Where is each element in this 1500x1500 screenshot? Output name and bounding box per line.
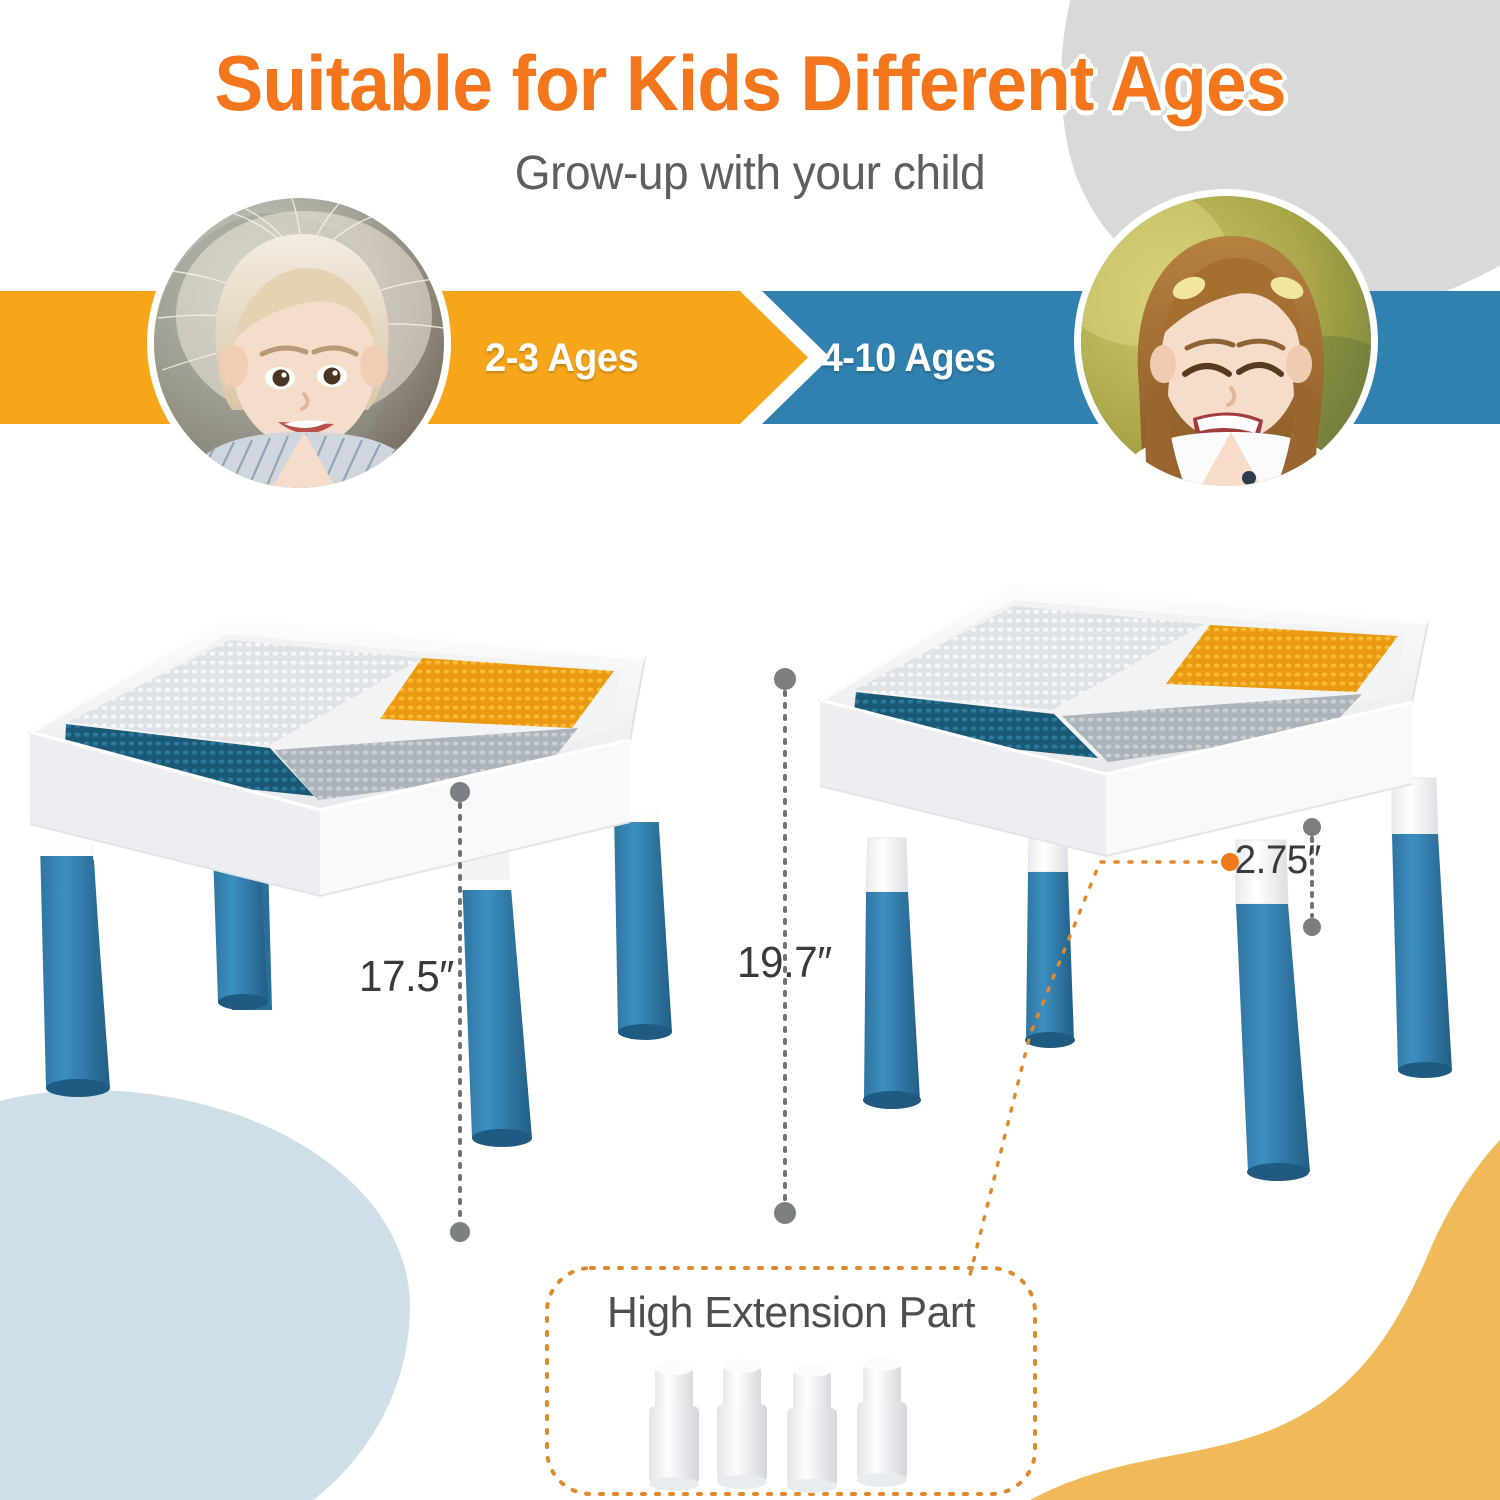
- callout-leader-line: [930, 845, 1260, 1285]
- age-range-older: 4-10 Ages: [822, 336, 996, 381]
- dimension-label-17: 17.5″: [359, 952, 454, 1002]
- dimension-label-19: 19.7″: [737, 938, 832, 988]
- age-range-young: 2-3 Ages: [485, 336, 638, 381]
- photo-toddler-smiling: [154, 198, 444, 488]
- page-subtitle: Grow-up with your child: [30, 146, 1470, 201]
- dimension-line-17: [445, 782, 475, 1242]
- page-title: Suitable for Kids Different Ages: [45, 44, 1455, 122]
- photo-girl-laughing: [1081, 196, 1371, 486]
- extension-part-pieces: [641, 1350, 941, 1500]
- extension-part-label: High Extension Part: [549, 1288, 1034, 1338]
- infographic-canvas: Suitable for Kids Different Ages Grow-up…: [0, 0, 1500, 1500]
- activity-table-low: [10, 560, 710, 1260]
